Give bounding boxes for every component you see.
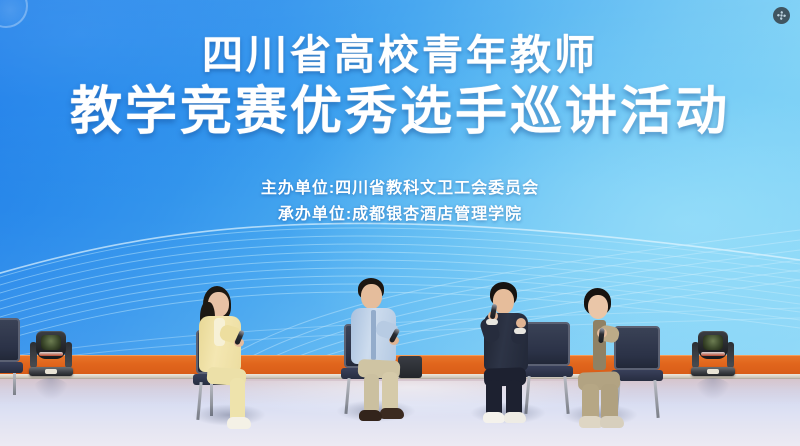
shoe-2 <box>504 412 526 423</box>
cuff-left <box>514 328 526 334</box>
panelist-in-beige-coat <box>566 288 644 438</box>
light-lens-icon <box>703 335 723 350</box>
hand-left <box>516 318 526 328</box>
shoe <box>227 417 251 429</box>
panelist-in-dark-tangzhuang <box>472 282 550 432</box>
empty-chair-far-left <box>0 318 20 374</box>
head <box>361 284 382 309</box>
chair-back <box>0 318 20 362</box>
shoe <box>483 412 505 423</box>
shoe-2 <box>359 410 382 421</box>
light-head <box>698 331 728 359</box>
cuff-right <box>486 319 498 325</box>
shoe-2 <box>600 416 624 428</box>
light-stripe <box>39 352 63 356</box>
panelist-in-yellow-suit <box>186 286 264 436</box>
light-base-led <box>707 369 719 374</box>
light-yoke-right <box>727 342 734 368</box>
chair-seat <box>0 362 23 373</box>
light-stripe <box>701 352 725 356</box>
light-floor-reflection-left <box>33 378 69 400</box>
stage-photo: 四川省高校青年教师 教学竞赛优秀选手巡讲活动 主办单位:四川省教科文卫工会委员会… <box>0 0 800 446</box>
shirt-placket <box>371 310 376 360</box>
chair-leg <box>13 373 16 395</box>
corner-badge-icon <box>773 7 790 24</box>
shin-2 <box>364 374 379 414</box>
moving-head-light-right <box>686 318 740 376</box>
light-floor-reflection-right <box>695 378 731 400</box>
moving-head-light-left <box>24 318 78 376</box>
light-yoke-right <box>65 342 72 368</box>
light-head <box>36 331 66 359</box>
light-base-led <box>45 369 57 374</box>
head <box>588 295 608 319</box>
shoe <box>380 408 404 419</box>
light-lens-icon <box>41 335 61 350</box>
panelist-in-blue-shirt <box>340 278 418 428</box>
